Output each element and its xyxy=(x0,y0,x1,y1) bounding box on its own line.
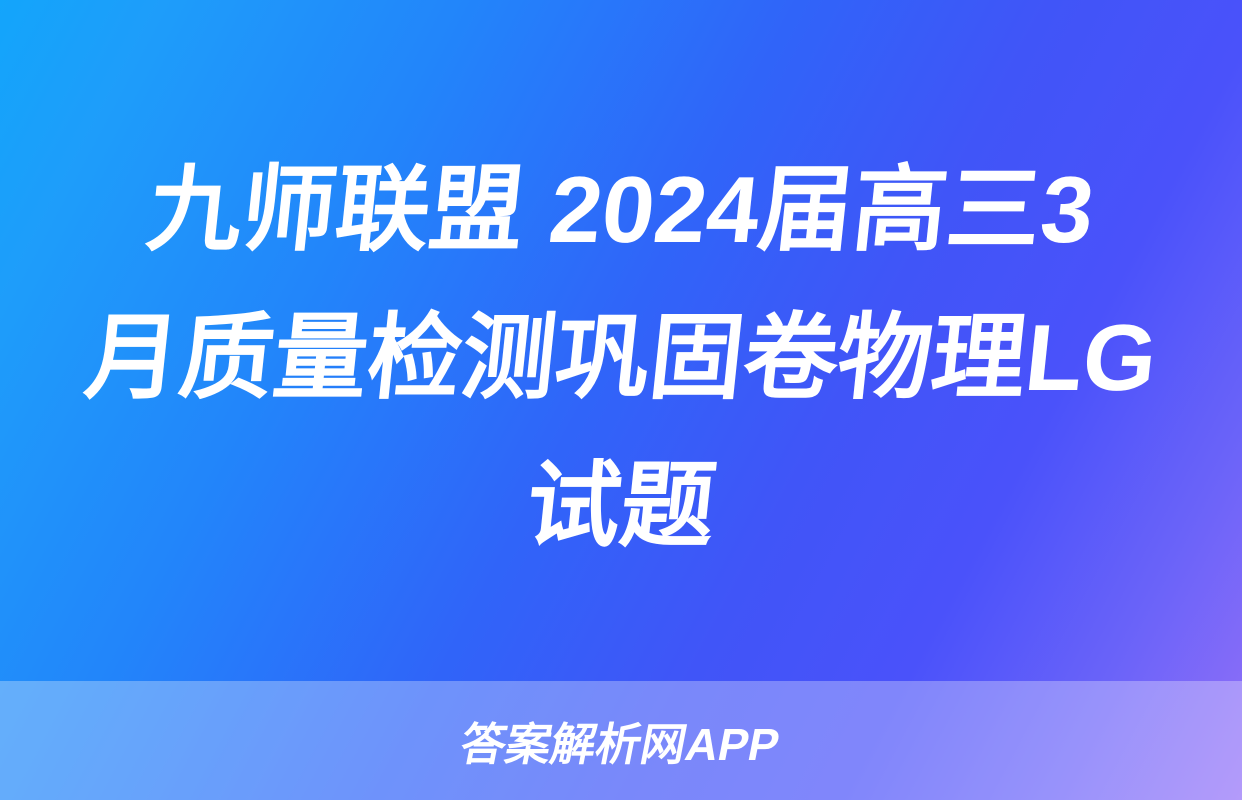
cover-page: 九师联盟 2024届高三3 月质量检测巩固卷物理LG 试题 答案解析网APP xyxy=(0,0,1242,800)
title-line-3: 试题 xyxy=(519,432,723,580)
page-title: 九师联盟 2024届高三3 月质量检测巩固卷物理LG 试题 xyxy=(0,0,1242,681)
title-line-2: 月质量检测巩固卷物理LG xyxy=(78,284,1164,432)
app-watermark-label: 答案解析网APP xyxy=(457,714,785,767)
footer-watermark-band: 答案解析网APP xyxy=(0,681,1242,800)
title-line-1: 九师联盟 2024届高三3 xyxy=(140,136,1101,284)
